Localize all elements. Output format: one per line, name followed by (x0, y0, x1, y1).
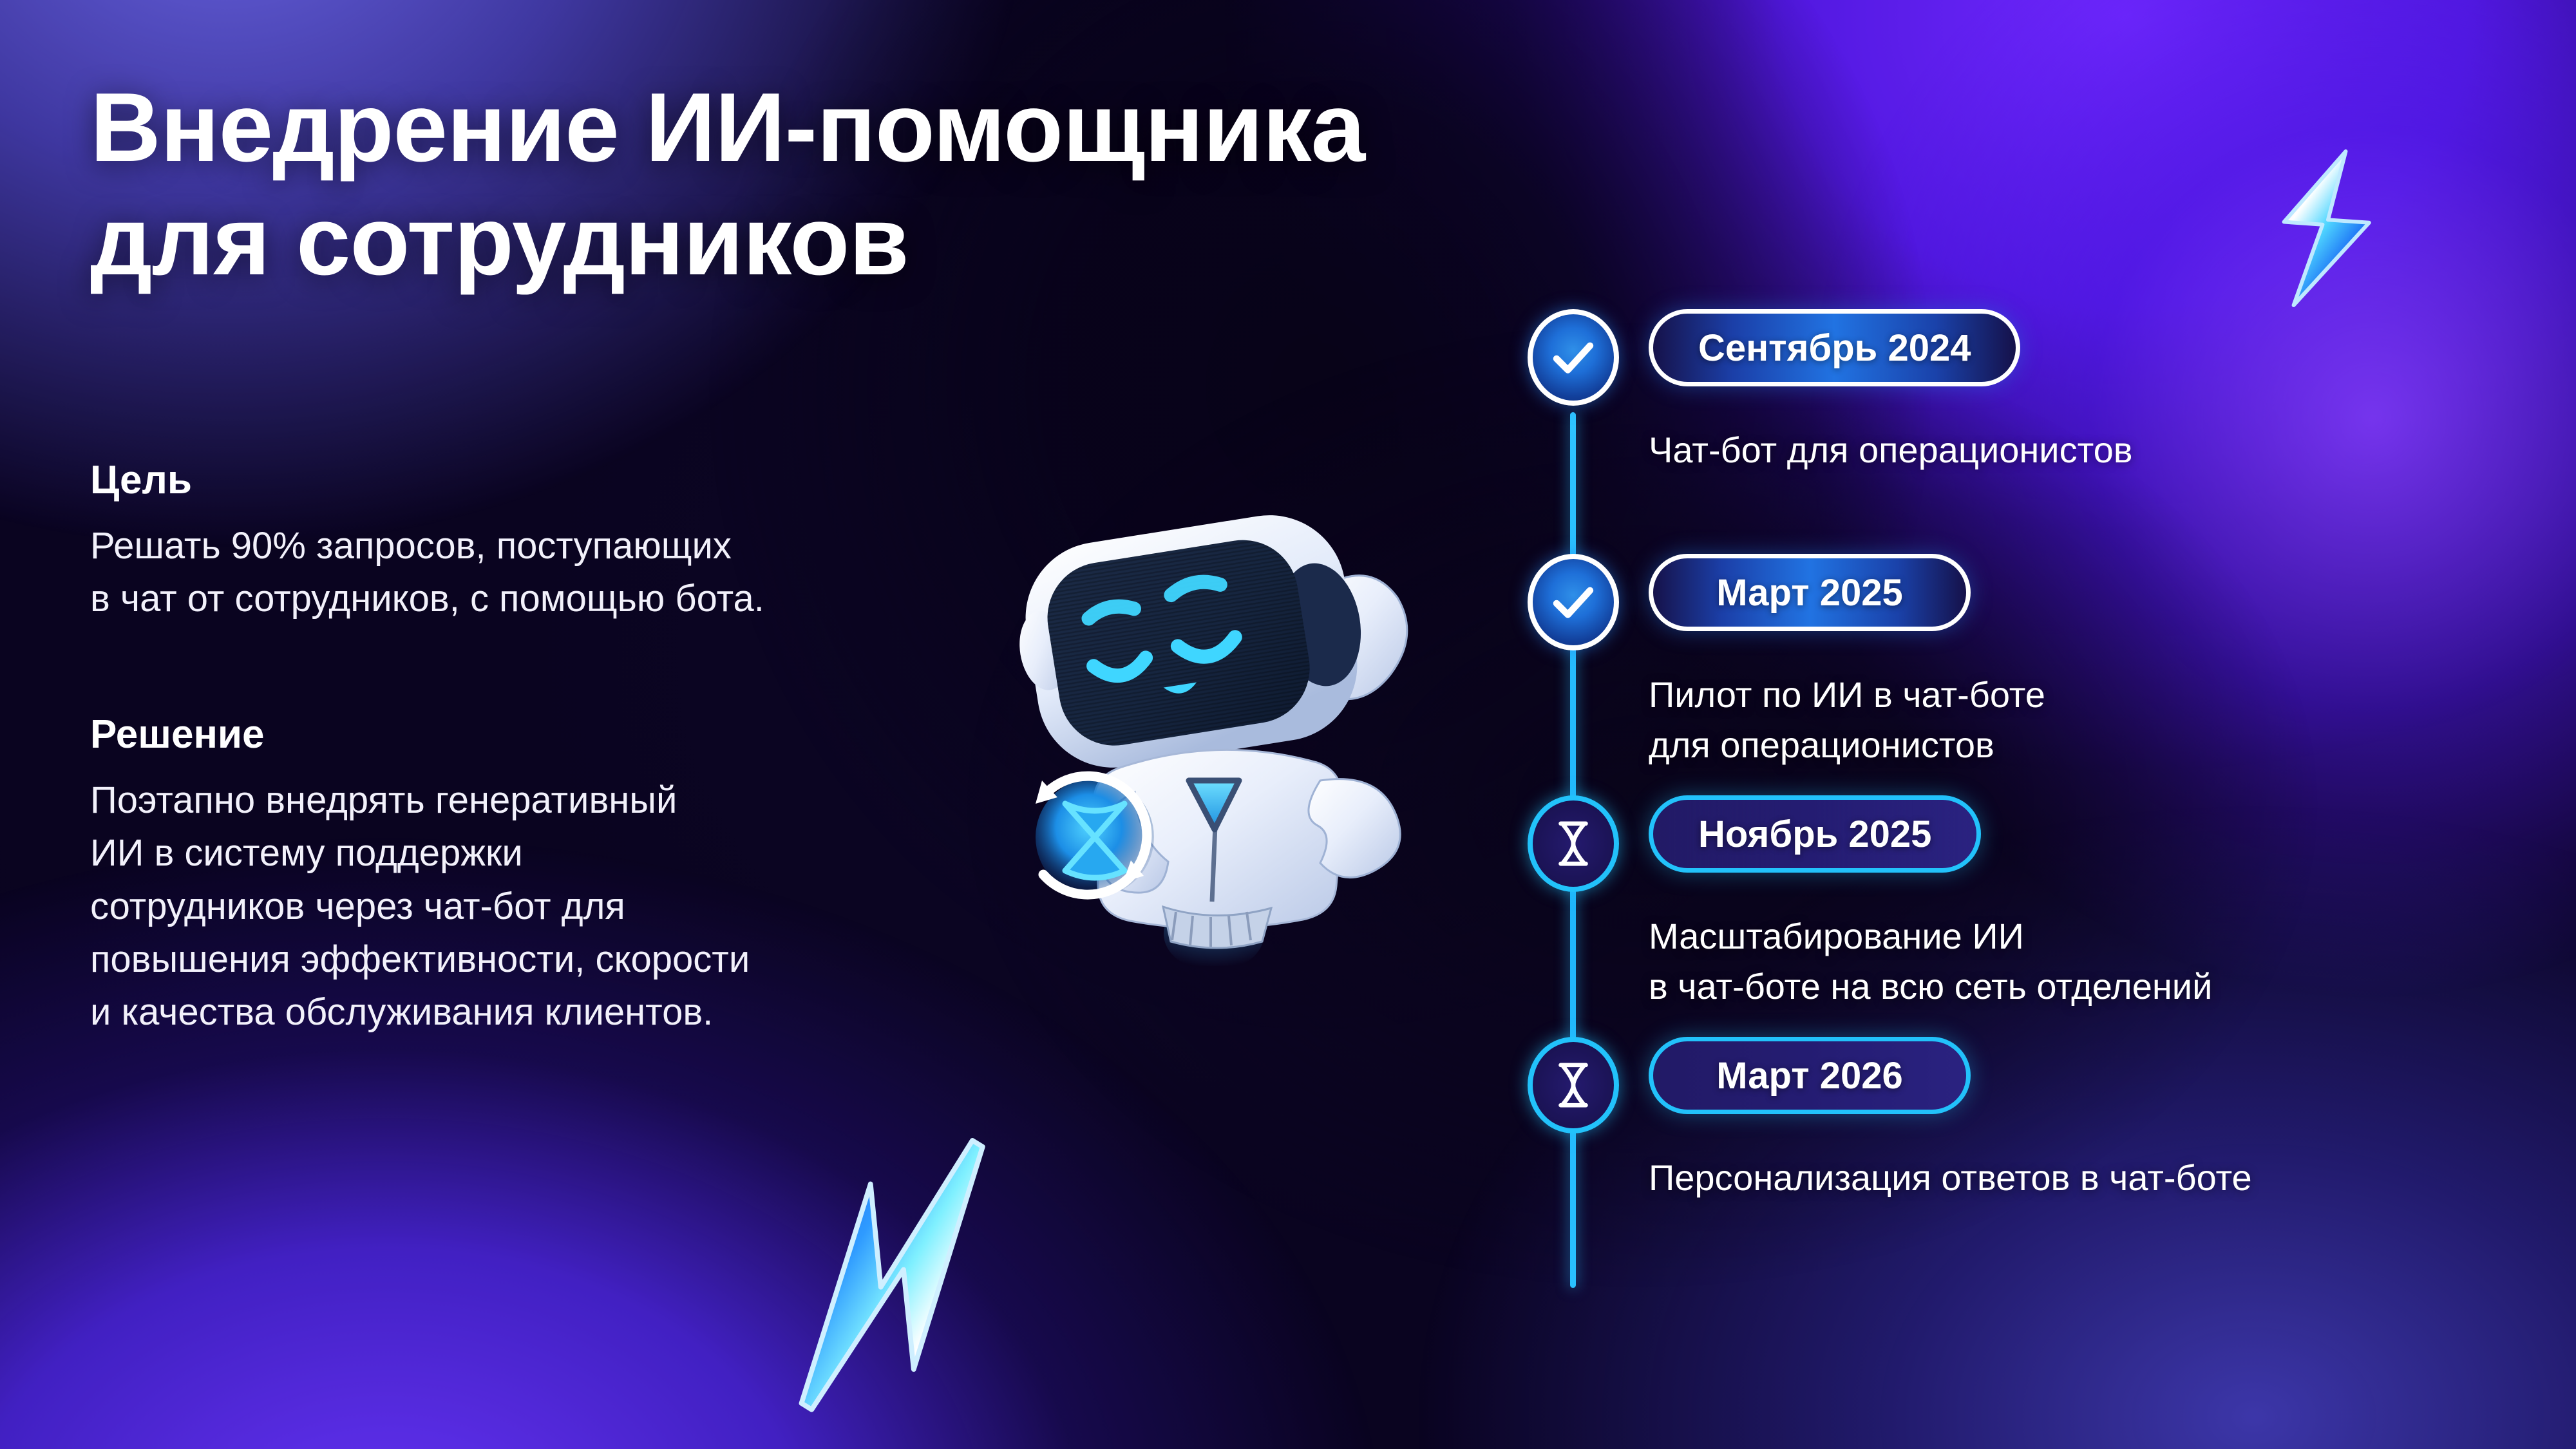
timeline-date-pill-1[interactable]: Сентябрь 2024 (1649, 309, 2020, 386)
solution-heading: Решение (90, 712, 750, 757)
hourglass-icon (1553, 820, 1593, 867)
robot-mascot-illustration (985, 489, 1462, 966)
timeline-description-1: Чат-бот для операционистов (1649, 425, 2133, 475)
timeline-date-pill-3[interactable]: Ноябрь 2025 (1649, 795, 1981, 873)
solution-block: Решение Поэтапно внедрять генеративный И… (90, 712, 750, 1039)
timeline-date-pill-4[interactable]: Март 2026 (1649, 1037, 1971, 1114)
timeline-date-1: Сентябрь 2024 (1698, 327, 1971, 370)
lightning-bolt-icon-small (2242, 140, 2408, 317)
robot-head (1014, 504, 1369, 779)
hourglass-refresh-orb-icon (1036, 776, 1154, 896)
check-icon (1548, 332, 1598, 383)
timeline: Сентябрь 2024 Чат-бот для операционистов… (1513, 309, 2544, 1352)
timeline-date-pill-2[interactable]: Март 2025 (1649, 554, 1971, 631)
timeline-marker-2 (1528, 554, 1619, 650)
timeline-marker-1 (1528, 309, 1619, 406)
timeline-description-2: Пилот по ИИ в чат-боте для операционисто… (1649, 670, 2045, 771)
timeline-description-3: Масштабирование ИИ в чат-боте на всю сет… (1649, 911, 2212, 1012)
lightning-bolt-icon-large (758, 1129, 1019, 1421)
timeline-date-3: Ноябрь 2025 (1698, 813, 1931, 856)
goal-heading: Цель (90, 457, 764, 503)
solution-text: Поэтапно внедрять генеративный ИИ в сист… (90, 774, 750, 1039)
timeline-description-4: Персонализация ответов в чат-боте (1649, 1153, 2252, 1203)
slide-root: Внедрение ИИ-помощника для сотрудников Ц… (0, 0, 2576, 1449)
robot-hip-arm (1309, 779, 1400, 878)
goal-text: Решать 90% запросов, поступающих в чат о… (90, 520, 764, 626)
check-icon (1548, 577, 1598, 627)
timeline-marker-3 (1528, 795, 1619, 892)
timeline-date-2: Март 2025 (1716, 571, 1903, 614)
hourglass-icon (1553, 1061, 1593, 1109)
timeline-date-4: Март 2026 (1716, 1054, 1903, 1097)
goal-block: Цель Решать 90% запросов, поступающих в … (90, 457, 764, 626)
page-title: Внедрение ИИ-помощника для сотрудников (90, 71, 1365, 298)
timeline-marker-4 (1528, 1037, 1619, 1133)
